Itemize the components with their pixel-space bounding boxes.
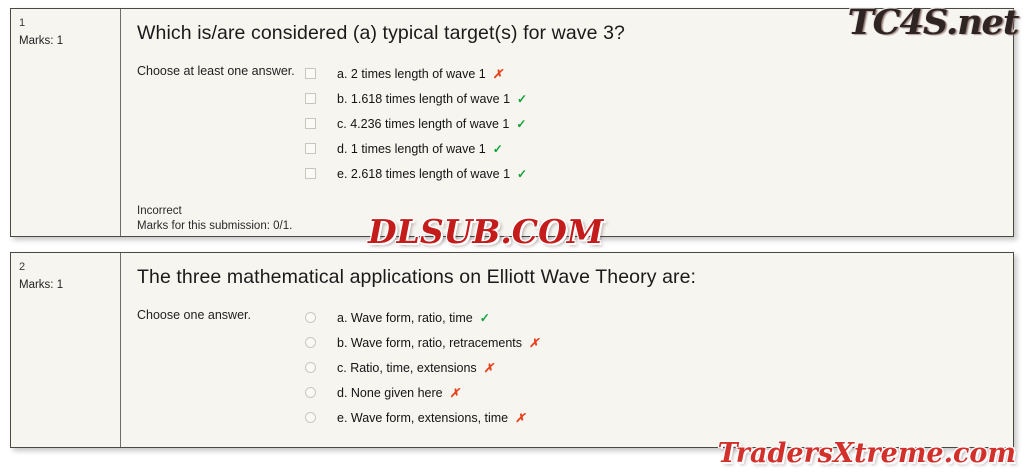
question-meta-column: 2 Marks: 1: [11, 253, 121, 447]
feedback-status: Incorrect: [137, 204, 1013, 219]
radio-icon[interactable]: [305, 362, 316, 373]
answer-option-label: a. 2 times length of wave 1: [327, 66, 486, 82]
checkbox-d[interactable]: [305, 143, 327, 154]
radio-b[interactable]: [305, 337, 327, 348]
cross-icon: ✗: [443, 385, 460, 401]
answer-option-d[interactable]: d. 1 times length of wave 1 ✓: [305, 136, 1013, 161]
answer-option-label: e. 2.618 times length of wave 1: [327, 166, 510, 182]
question-panel-1: 1 Marks: 1 Which is/are considered (a) t…: [10, 8, 1014, 237]
question-feedback: Incorrect Marks for this submission: 0/1…: [121, 204, 1013, 234]
question-marks: Marks: 1: [19, 277, 120, 293]
radio-d[interactable]: [305, 387, 327, 398]
checkbox-b[interactable]: [305, 93, 327, 104]
checkbox-a[interactable]: [305, 68, 327, 79]
question-title: Which is/are considered (a) typical targ…: [121, 9, 1013, 45]
question-layout: 1 Marks: 1 Which is/are considered (a) t…: [11, 9, 1013, 236]
answer-option-e[interactable]: e. Wave form, extensions, time ✗: [305, 405, 1013, 430]
check-icon: ✓: [509, 116, 526, 132]
checkbox-icon[interactable]: [305, 168, 316, 179]
feedback-marks: Marks for this submission: 0/1.: [137, 219, 1013, 234]
question-instruction: Choose at least one answer.: [137, 61, 297, 186]
answer-option-list: a. 2 times length of wave 1 ✗ b. 1.618 t…: [297, 61, 1013, 186]
radio-e[interactable]: [305, 412, 327, 423]
question-meta-column: 1 Marks: 1: [11, 9, 121, 236]
answer-option-b[interactable]: b. Wave form, ratio, retracements ✗: [305, 330, 1013, 355]
answer-option-label: c. 4.236 times length of wave 1: [327, 116, 509, 132]
question-panel-2: 2 Marks: 1 The three mathematical applic…: [10, 252, 1014, 448]
answer-option-label: a. Wave form, ratio, time: [327, 310, 473, 326]
check-icon: ✓: [486, 141, 503, 157]
radio-icon[interactable]: [305, 412, 316, 423]
question-body: The three mathematical applications on E…: [121, 253, 1013, 447]
question-number: 2: [19, 260, 120, 274]
answer-option-label: b. Wave form, ratio, retracements: [327, 335, 522, 351]
check-icon: ✓: [473, 310, 490, 326]
checkbox-icon[interactable]: [305, 93, 316, 104]
answer-option-label: d. 1 times length of wave 1: [327, 141, 486, 157]
cross-icon: ✗: [477, 360, 494, 376]
answer-option-label: d. None given here: [327, 385, 443, 401]
answer-option-a[interactable]: a. 2 times length of wave 1 ✗: [305, 61, 1013, 86]
radio-a[interactable]: [305, 312, 327, 323]
answer-option-c[interactable]: c. 4.236 times length of wave 1 ✓: [305, 111, 1013, 136]
checkbox-icon[interactable]: [305, 118, 316, 129]
radio-icon[interactable]: [305, 337, 316, 348]
question-number: 1: [19, 16, 120, 30]
checkbox-c[interactable]: [305, 118, 327, 129]
question-layout: 2 Marks: 1 The three mathematical applic…: [11, 253, 1013, 447]
question-title: The three mathematical applications on E…: [121, 253, 1013, 289]
answer-option-a[interactable]: a. Wave form, ratio, time ✓: [305, 305, 1013, 330]
question-marks: Marks: 1: [19, 33, 120, 49]
answer-option-c[interactable]: c. Ratio, time, extensions ✗: [305, 355, 1013, 380]
cross-icon: ✗: [508, 410, 525, 426]
cross-icon: ✗: [522, 335, 539, 351]
answer-option-label: c. Ratio, time, extensions: [327, 360, 477, 376]
checkbox-e[interactable]: [305, 168, 327, 179]
question-instruction: Choose one answer.: [137, 305, 297, 430]
check-icon: ✓: [510, 91, 527, 107]
answer-option-label: b. 1.618 times length of wave 1: [327, 91, 510, 107]
answer-option-d[interactable]: d. None given here ✗: [305, 380, 1013, 405]
answer-option-b[interactable]: b. 1.618 times length of wave 1 ✓: [305, 86, 1013, 111]
checkbox-icon[interactable]: [305, 143, 316, 154]
question-body: Which is/are considered (a) typical targ…: [121, 9, 1013, 236]
answer-option-list: a. Wave form, ratio, time ✓ b. Wave form…: [297, 305, 1013, 430]
radio-icon[interactable]: [305, 312, 316, 323]
answer-option-label: e. Wave form, extensions, time: [327, 410, 508, 426]
question-content: Choose at least one answer. a. 2 times l…: [121, 61, 1013, 186]
checkbox-icon[interactable]: [305, 68, 316, 79]
answer-option-e[interactable]: e. 2.618 times length of wave 1 ✓: [305, 161, 1013, 186]
radio-icon[interactable]: [305, 387, 316, 398]
check-icon: ✓: [510, 166, 527, 182]
cross-icon: ✗: [486, 66, 503, 82]
radio-c[interactable]: [305, 362, 327, 373]
quiz-review-page: 1 Marks: 1 Which is/are considered (a) t…: [0, 0, 1024, 473]
question-content: Choose one answer. a. Wave form, ratio, …: [121, 305, 1013, 430]
